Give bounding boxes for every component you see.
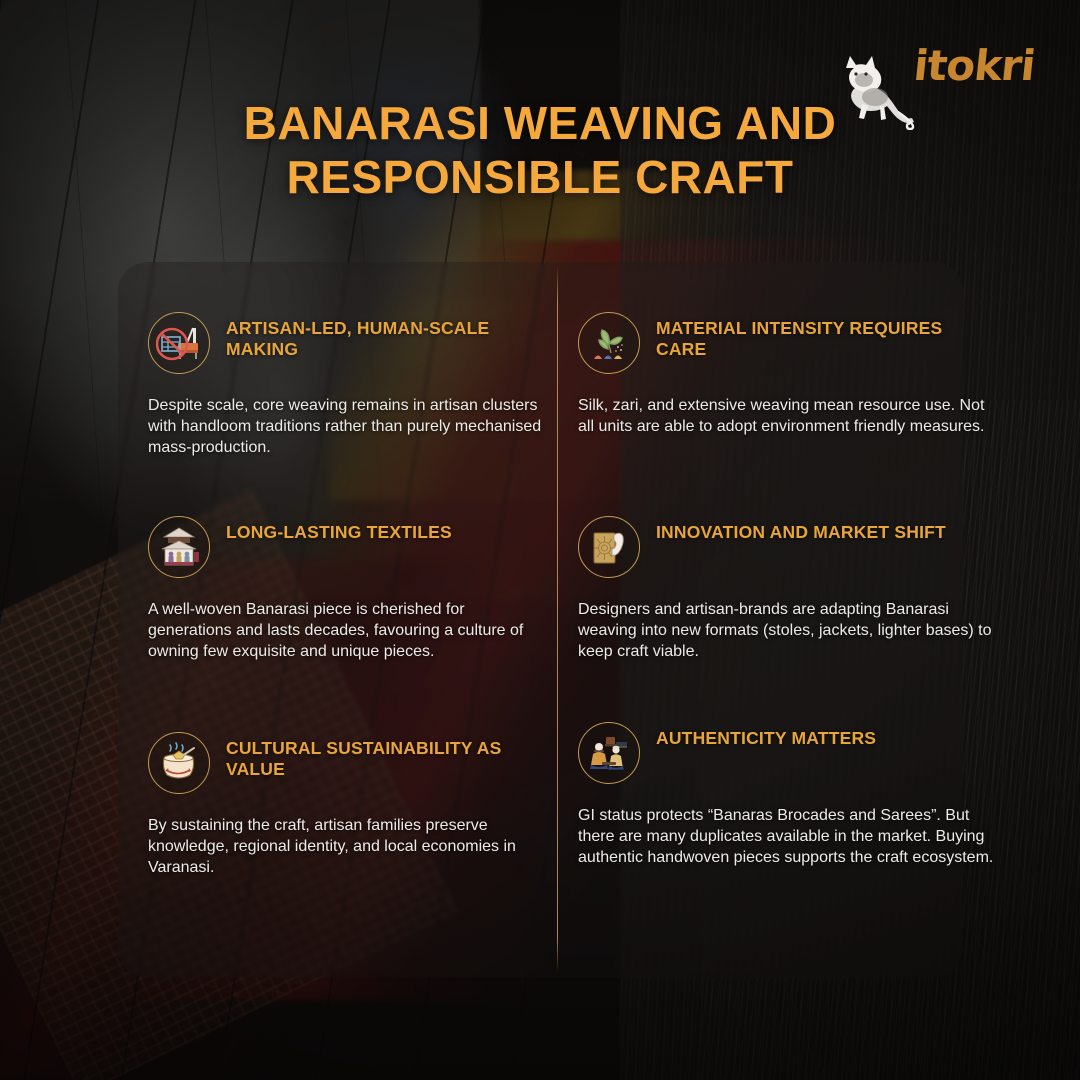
card-material-intensity: MATERIAL INTENSITY REQUIRES CARE Silk, z…	[578, 310, 978, 438]
card-title: ARTISAN-LED, HUMAN-SCALE MAKING	[226, 310, 548, 361]
card-innovation-market-shift: INNOVATION AND MARKET SHIFT Designers an…	[578, 514, 978, 662]
card-authenticity-matters: AUTHENTICITY MATTERS GI status protects …	[578, 720, 978, 868]
steaming-cooking-pot-icon	[148, 732, 210, 794]
card-cultural-sustainability: CULTURAL SUSTAINABILITY AS VALUE By sust…	[148, 730, 548, 878]
card-body: Silk, zari, and extensive weaving mean r…	[578, 396, 998, 438]
card-header: MATERIAL INTENSITY REQUIRES CARE	[578, 310, 978, 374]
card-long-lasting-textiles: LONG-LASTING TEXTILES A well-woven Banar…	[148, 514, 548, 662]
card-body: By sustaining the craft, artisan familie…	[148, 816, 548, 878]
brand-logo: itokri	[914, 40, 1044, 92]
card-body: A well-woven Banarasi piece is cherished…	[148, 600, 548, 662]
card-title: INNOVATION AND MARKET SHIFT	[656, 514, 946, 543]
card-artisan-led: ARTISAN-LED, HUMAN-SCALE MAKING Despite …	[148, 310, 548, 458]
page-title: BANARASI WEAVING AND RESPONSIBLE CRAFT	[0, 96, 1080, 205]
card-header: INNOVATION AND MARKET SHIFT	[578, 514, 978, 578]
artisan-shop-storefront-icon	[148, 516, 210, 578]
card-header: ARTISAN-LED, HUMAN-SCALE MAKING	[148, 310, 548, 374]
two-seated-artisans-icon	[578, 722, 640, 784]
card-title: MATERIAL INTENSITY REQUIRES CARE	[656, 310, 978, 361]
card-header: CULTURAL SUSTAINABILITY AS VALUE	[148, 730, 548, 794]
brand-logo-text: itokri	[911, 40, 1046, 92]
card-body: Despite scale, core weaving remains in a…	[148, 396, 548, 458]
card-header: LONG-LASTING TEXTILES	[148, 514, 548, 578]
cards-grid: ARTISAN-LED, HUMAN-SCALE MAKING Despite …	[118, 262, 963, 978]
card-title: CULTURAL SUSTAINABILITY AS VALUE	[226, 730, 548, 781]
no-machine-loom-icon	[148, 312, 210, 374]
infographic-poster: itokri BANARASI WEAVING AND RESPONSIBLE …	[0, 0, 1080, 1080]
hand-holding-fabric-swatch-icon	[578, 516, 640, 578]
plant-leaves-dye-icon	[578, 312, 640, 374]
card-title: LONG-LASTING TEXTILES	[226, 514, 452, 543]
card-body: Designers and artisan-brands are adaptin…	[578, 600, 998, 662]
card-title: AUTHENTICITY MATTERS	[656, 720, 876, 749]
card-header: AUTHENTICITY MATTERS	[578, 720, 978, 784]
card-body: GI status protects “Banaras Brocades and…	[578, 806, 998, 868]
